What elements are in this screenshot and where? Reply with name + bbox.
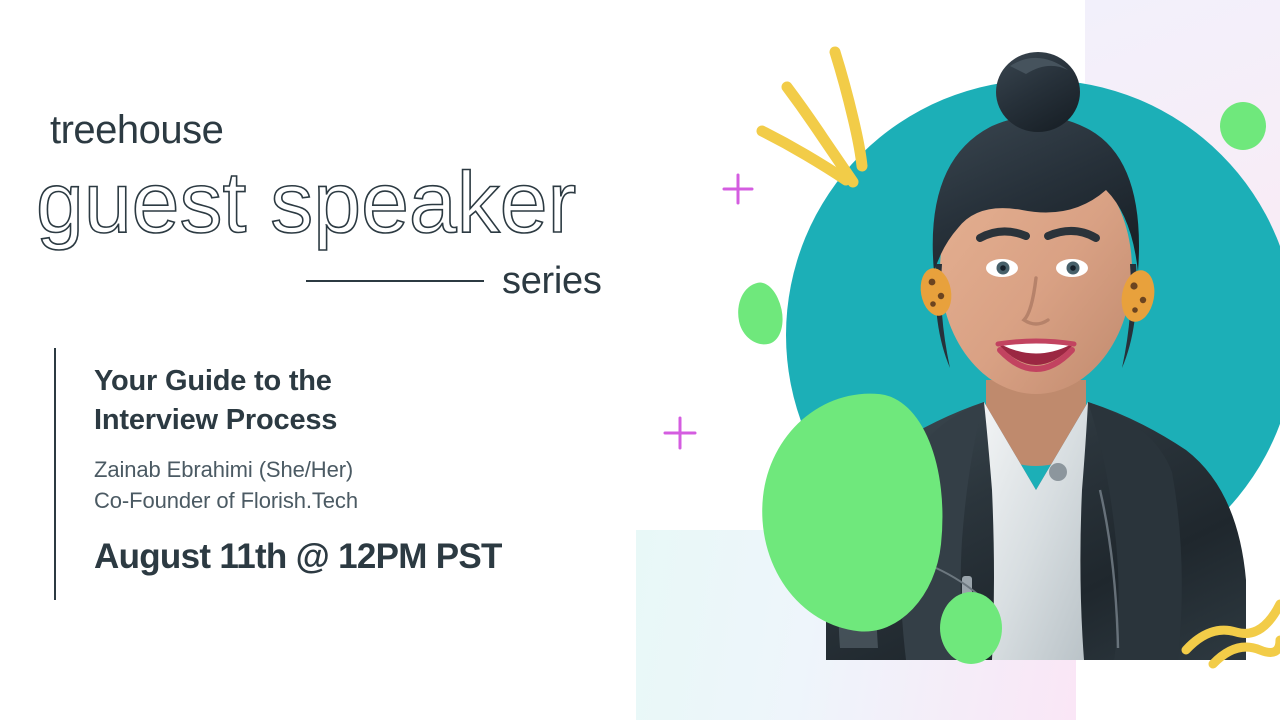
speaker-role: Co-Founder of Florish.Tech bbox=[94, 486, 634, 517]
plus-mark-icon bbox=[665, 418, 695, 448]
event-date-time: August 11th @ 12PM PST bbox=[94, 537, 634, 577]
brand-wordmark: treehouse bbox=[50, 108, 223, 153]
green-blob-round-icon bbox=[940, 592, 1002, 664]
event-info-block: Your Guide to the Interview Process Zain… bbox=[54, 348, 634, 600]
event-title: Your Guide to the Interview Process bbox=[94, 362, 634, 439]
event-title-line-2: Interview Process bbox=[94, 401, 634, 440]
speaker-name: Zainab Ebrahimi (She/Her) bbox=[94, 455, 634, 486]
series-row: series bbox=[306, 255, 624, 307]
guest-speaker-poster: treehouse guest speaker series Your Guid… bbox=[0, 0, 1280, 720]
series-label: series bbox=[502, 260, 602, 303]
series-divider-rule bbox=[306, 280, 484, 282]
headline-outline-text: guest speaker bbox=[36, 158, 576, 248]
event-title-line-1: Your Guide to the bbox=[94, 362, 634, 401]
plus-mark-icon bbox=[724, 175, 752, 203]
green-blob-small-icon bbox=[732, 279, 788, 349]
